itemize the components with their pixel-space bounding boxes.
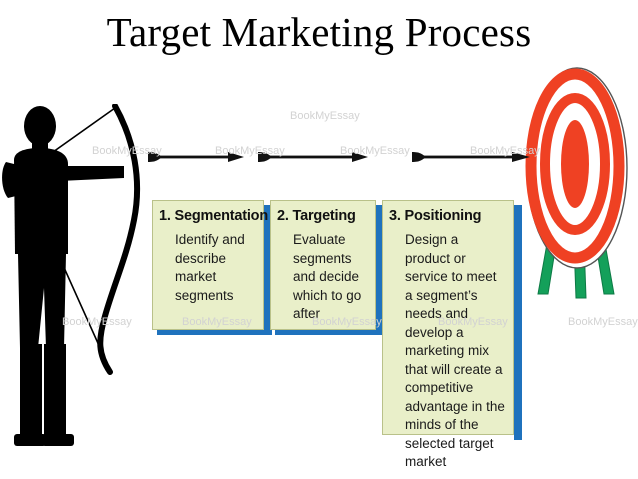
watermark: BookMyEssay [182,316,252,329]
step-card-heading: 2. Targeting [271,201,375,225]
watermark: BookMyEssay [340,145,410,158]
watermark: BookMyEssay [312,316,382,329]
page-title: Target Marketing Process [0,8,638,56]
step-card-body: Evaluate segments and decide which to go… [271,225,375,324]
target-bullseye [561,120,589,208]
watermark: BookMyEssay [92,145,162,158]
slide-canvas: Target Marketing Process [0,0,638,479]
step-card-body: Identify and describe market segments [153,225,263,305]
watermark: BookMyEssay [470,145,540,158]
watermark: BookMyEssay [290,110,360,123]
step-card-heading: 1. Segmentation [153,201,263,225]
watermark: BookMyEssay [62,316,132,329]
step-card-body: Design a product or service to meet a se… [383,225,513,472]
step-card-segmentation[interactable]: 1. Segmentation Identify and describe ma… [152,200,264,330]
watermark: BookMyEssay [568,316,638,329]
watermark: BookMyEssay [215,145,285,158]
step-card-targeting[interactable]: 2. Targeting Evaluate segments and decid… [270,200,376,330]
watermark: BookMyEssay [438,316,508,329]
step-card-heading: 3. Positioning [383,201,513,225]
step-card-shadow [514,205,522,440]
archery-target [516,60,638,300]
